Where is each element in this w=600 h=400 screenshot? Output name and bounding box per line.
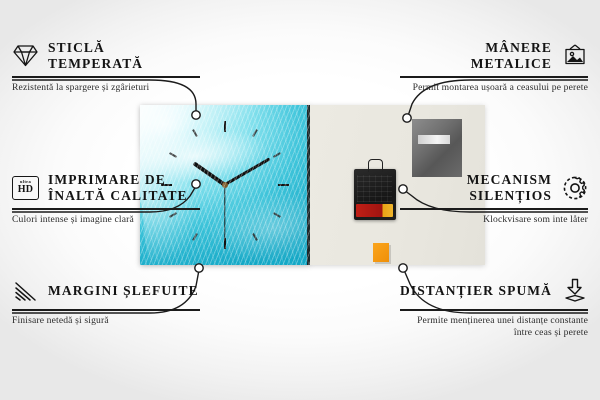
divider — [400, 76, 588, 78]
foam-spacer — [373, 243, 389, 262]
divider — [400, 208, 588, 210]
mechanism-texture — [357, 175, 392, 202]
clock-tick — [224, 185, 226, 249]
feature-subtitle: Culori intense și imagine clară — [12, 214, 200, 226]
battery — [356, 204, 393, 216]
hd-label: HD — [18, 185, 33, 195]
feature-metal-handles: MÂNERE METALICE Permit montarea ușoară a… — [400, 40, 588, 94]
feature-subtitle: Finisare netedă și sigură — [12, 315, 200, 327]
diagonal-lines-icon — [12, 277, 39, 304]
hanger-loop — [368, 159, 383, 172]
feature-title: DISTANȚIER SPUMĂ — [400, 283, 552, 299]
clock-tick — [224, 121, 226, 185]
feature-title: MÂNERE METALICE — [400, 40, 552, 71]
connector-dot — [399, 264, 407, 272]
clock-tick — [224, 185, 258, 241]
metal-hanger-plate — [412, 119, 463, 177]
divider — [12, 208, 200, 210]
minute-hand — [224, 158, 271, 187]
clock-tick — [225, 184, 289, 186]
feature-foam-spacer: DISTANȚIER SPUMĂ Permite menținerea unei… — [400, 277, 588, 339]
diamond-icon — [12, 42, 39, 69]
feature-high-quality-print: ultra HD IMPRIMARE DE ÎNALTĂ CALITATE Cu… — [12, 172, 200, 226]
hanger-slot — [418, 135, 450, 144]
feature-subtitle: Klockvisare som inte låter — [400, 214, 588, 226]
feature-title: STICLĂ TEMPERATĂ — [48, 40, 200, 71]
clock-tick — [224, 129, 258, 185]
clock-mechanism-box — [354, 169, 396, 220]
divider — [400, 309, 588, 311]
hand-cap — [222, 182, 228, 188]
feature-polished-edges: MARGINI ȘLEFUITE Finisare netedă și sigu… — [12, 277, 200, 327]
feature-tempered-glass: STICLĂ TEMPERATĂ Rezistentă la spargere … — [12, 40, 200, 94]
feature-subtitle: Permit montarea ușoară a ceasului pe per… — [400, 82, 588, 94]
second-hand — [224, 185, 225, 239]
divider — [12, 76, 200, 78]
divider — [12, 309, 200, 311]
infographic-canvas: STICLĂ TEMPERATĂ Rezistentă la spargere … — [0, 0, 600, 400]
feature-subtitle: Permite menținerea unei distanțe constan… — [400, 315, 588, 340]
down-arrow-layer-icon — [561, 277, 588, 304]
clock-tick — [225, 152, 281, 186]
clock-tick — [225, 184, 281, 218]
feature-title: IMPRIMARE DE ÎNALTĂ CALITATE — [48, 172, 200, 203]
picture-frame-icon — [561, 42, 588, 69]
feature-silent-mechanism: MECANISM SILENȚIOS Klockvisare som inte … — [400, 172, 588, 226]
feature-title: MECANISM SILENȚIOS — [400, 172, 552, 203]
feature-subtitle: Rezistentă la spargere și zgârieturi — [12, 82, 200, 94]
feature-title: MARGINI ȘLEFUITE — [48, 283, 199, 299]
gear-icon — [561, 174, 588, 201]
ultra-hd-icon: ultra HD — [12, 174, 39, 201]
